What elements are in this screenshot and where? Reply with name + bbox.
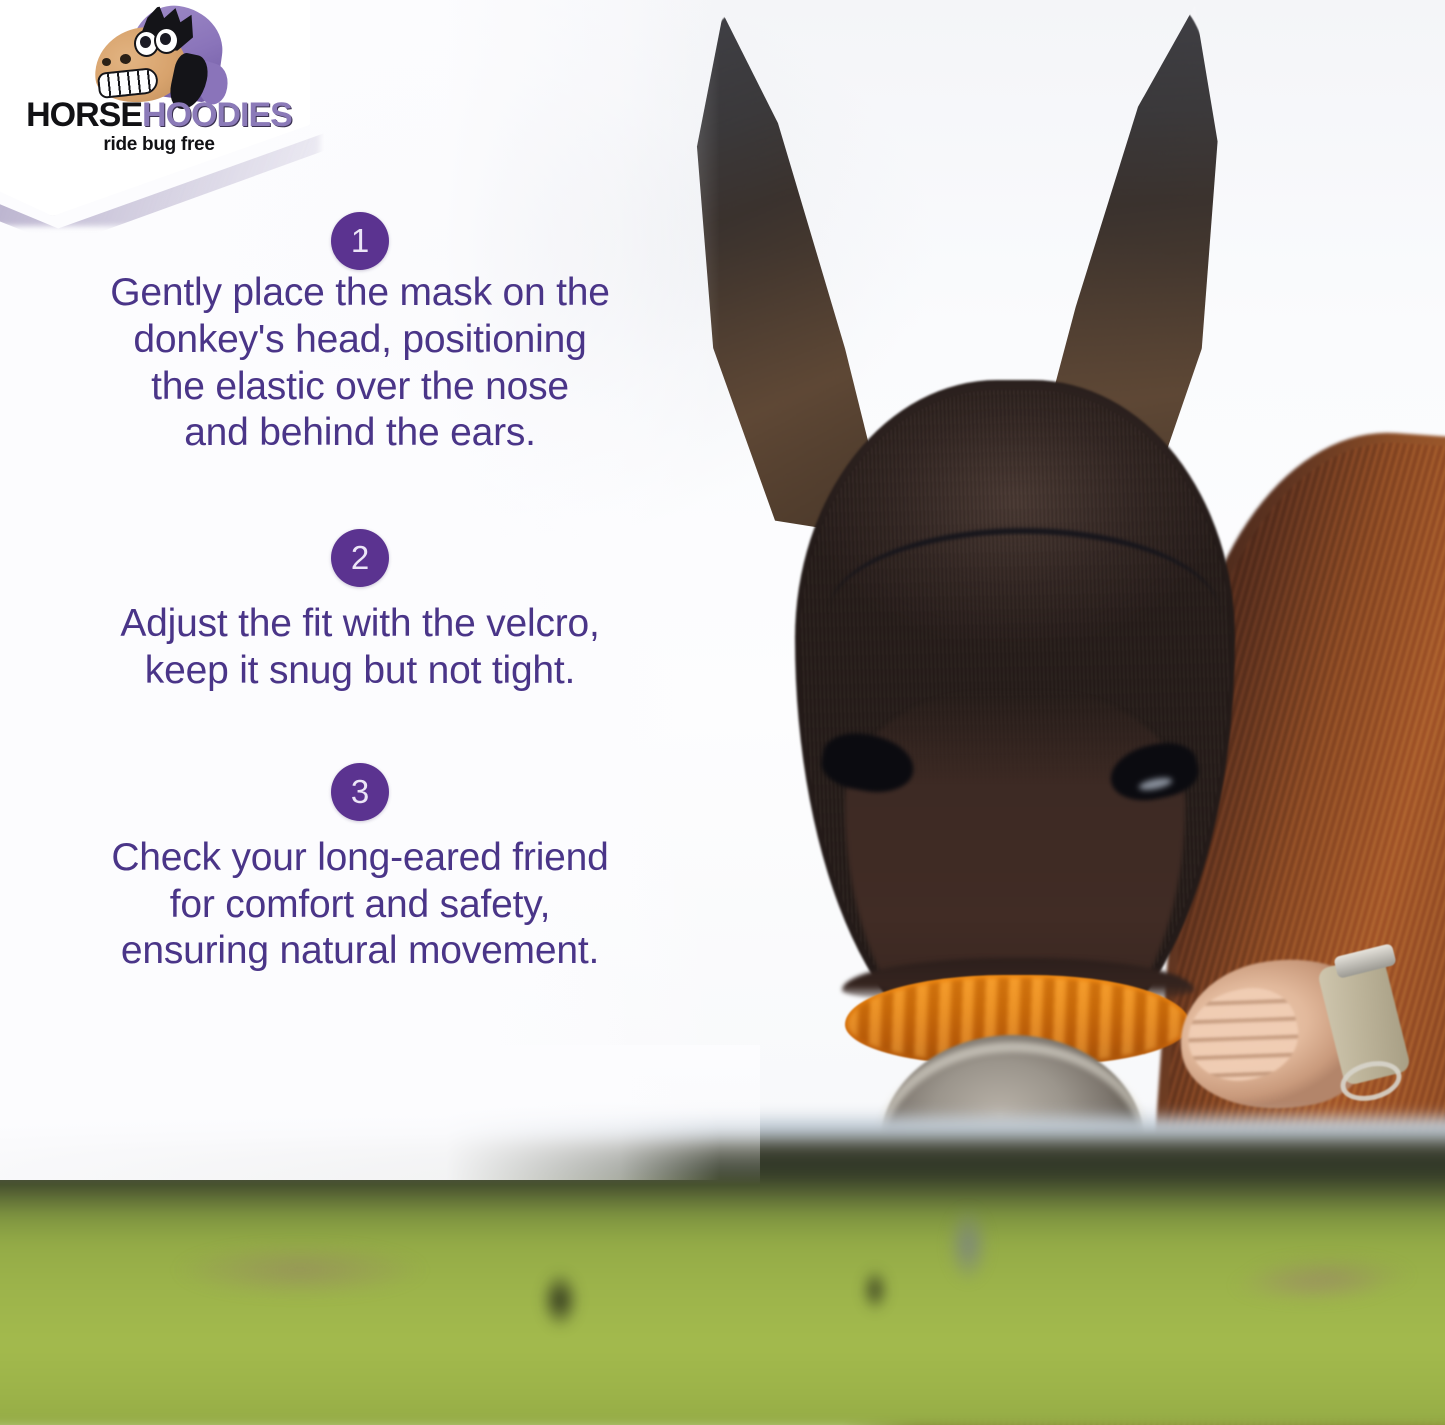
logo-word-horse: HORSE (26, 96, 142, 134)
step-2-badge: 2 (331, 529, 389, 587)
step-1-text: Gently place the mask on the donkey's he… (45, 270, 675, 457)
mascot-nostril-right (120, 54, 131, 64)
eye-highlight (1138, 776, 1173, 793)
mascot-teeth (99, 69, 157, 97)
logo-word-hoodies: HOODIES (142, 96, 292, 134)
infographic-canvas: HORSEHOODIES ride bug free 1 Gently plac… (0, 0, 1445, 1425)
step-1: 1 Gently place the mask on the donkey's … (20, 212, 700, 457)
mascot-right-pupil (160, 33, 171, 45)
step-3-text: Check your long-eared friend for comfort… (45, 835, 675, 975)
mascot-nostril-left (102, 58, 111, 66)
instruction-steps: 1 Gently place the mask on the donkey's … (20, 212, 700, 985)
logo-wordmark: HORSEHOODIES (14, 98, 304, 132)
step-3: 3 Check your long-eared friend for comfo… (20, 763, 700, 975)
logo-tagline: ride bug free (14, 134, 304, 156)
step-3-badge: 3 (331, 763, 389, 821)
step-2-text: Adjust the fit with the velcro, keep it … (45, 601, 675, 695)
step-2: 2 Adjust the fit with the velcro, keep i… (20, 529, 700, 695)
brand-logo[interactable]: HORSEHOODIES ride bug free (14, 2, 304, 172)
horse-mascot-icon (86, 2, 221, 110)
mascot-left-pupil (140, 36, 151, 48)
step-1-badge: 1 (331, 212, 389, 270)
